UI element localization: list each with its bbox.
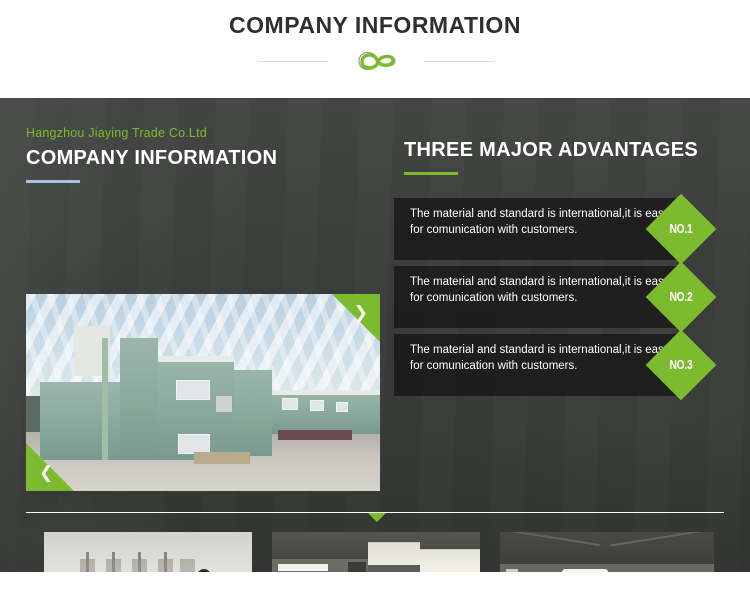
infinity-ornament-icon xyxy=(337,44,417,78)
thumb-rod xyxy=(112,552,115,572)
advantage-text: The material and standard is internation… xyxy=(410,343,672,374)
thumb-column xyxy=(348,562,366,572)
right-column-header: THREE MAJOR ADVANTAGES xyxy=(404,138,724,175)
photo-building-far xyxy=(272,390,380,434)
left-column-header: Hangzhou Jiaying Trade Co.Ltd COMPANY IN… xyxy=(26,126,380,183)
advantage-item[interactable]: The material and standard is internation… xyxy=(394,334,724,396)
photo-pallets xyxy=(194,452,250,464)
page-header: COMPANY INFORMATION xyxy=(0,0,750,98)
left-column-rule xyxy=(26,180,80,183)
photo-building-wing xyxy=(234,370,272,456)
photo-vehicles xyxy=(278,430,352,440)
advantage-badge-label: NO.3 xyxy=(661,340,702,390)
page-title: COMPANY INFORMATION xyxy=(0,12,750,39)
photo-building-front xyxy=(120,338,158,460)
header-divider xyxy=(0,44,750,78)
thumb-machine xyxy=(180,559,195,572)
photo-window xyxy=(178,434,210,454)
right-column-heading: THREE MAJOR ADVANTAGES xyxy=(404,138,724,162)
photo-window xyxy=(282,398,298,410)
divider-line-left xyxy=(258,61,328,62)
photo-window xyxy=(336,402,348,412)
photo-window xyxy=(310,400,324,411)
photo-window xyxy=(176,380,210,400)
advantage-badge-label: NO.1 xyxy=(661,204,702,254)
chevron-right-icon: ❯ xyxy=(354,304,368,321)
right-column-rule xyxy=(404,172,458,175)
advantages-list: The material and standard is internation… xyxy=(394,198,724,402)
triangle-down-icon xyxy=(368,513,386,522)
photo-roofline-far xyxy=(272,390,380,395)
production-line-thumbnail[interactable]: ❮ xyxy=(44,532,252,572)
thumb-rod xyxy=(138,552,141,572)
thumb-rod xyxy=(164,552,167,572)
gallery-next-button[interactable]: ❯ xyxy=(332,294,380,342)
thumb-worker-head xyxy=(198,569,210,572)
thumb-wall xyxy=(44,532,252,572)
thumb-rod xyxy=(86,552,89,572)
gallery-prev-button[interactable]: ❮ xyxy=(26,443,74,491)
left-column-heading: COMPANY INFORMATION xyxy=(26,146,380,170)
photo-roofline xyxy=(158,356,234,362)
storage-warehouse-thumbnail[interactable]: ❮ xyxy=(500,532,714,572)
thumbnail-row: ❮ xyxy=(44,532,714,572)
photo-ac-unit xyxy=(216,396,232,412)
advantage-item[interactable]: The material and standard is internation… xyxy=(394,266,724,328)
advantage-item[interactable]: The material and standard is internation… xyxy=(394,198,724,260)
thumb-ceiling-light xyxy=(562,569,608,572)
company-name-eyebrow: Hangzhou Jiaying Trade Co.Ltd xyxy=(26,126,380,140)
chevron-left-icon: ❮ xyxy=(39,464,53,481)
thumb-board-stack xyxy=(368,542,420,565)
thumb-window xyxy=(506,569,518,572)
advantage-text: The material and standard is internation… xyxy=(410,275,672,306)
advantage-text: The material and standard is internation… xyxy=(410,207,672,238)
factory-building-photo[interactable]: ❯ ❮ xyxy=(26,294,380,491)
advantage-badge-label: NO.2 xyxy=(661,272,702,322)
divider-line-right xyxy=(424,61,494,62)
company-info-panel: Hangzhou Jiaying Trade Co.Ltd COMPANY IN… xyxy=(0,98,750,572)
thumb-ceiling-light xyxy=(278,564,328,571)
photo-ladder xyxy=(102,338,108,460)
thumb-board-stack xyxy=(420,549,480,572)
board-warehouse-thumbnail[interactable]: ❮ xyxy=(272,532,480,572)
